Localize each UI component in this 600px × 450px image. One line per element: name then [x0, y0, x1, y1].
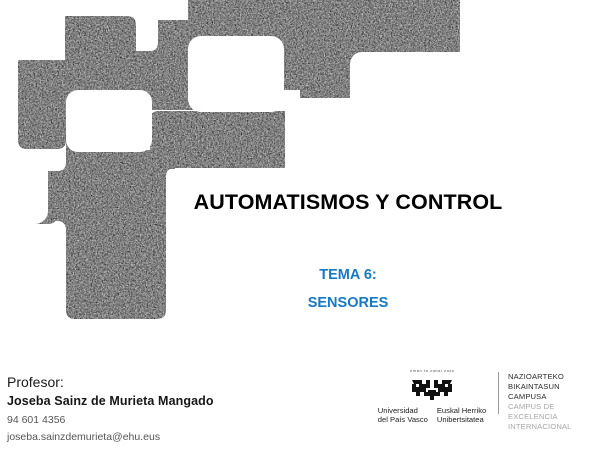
upv-name-es-line2: del País Vasco: [378, 415, 428, 425]
upv-name-row: Universidad del País Vasco Euskal Herrik…: [378, 406, 486, 425]
upv-name-eu-line2: Unibertsitatea: [437, 415, 486, 425]
professor-email[interactable]: joseba.sainzdemurieta@ehu.eus: [7, 432, 214, 443]
title-slide: AUTOMATISMOS Y CONTROL TEMA 6: SENSORES …: [0, 0, 600, 450]
campus-es-line3: INTERNACIONAL: [508, 422, 572, 432]
page-title: AUTOMATISMOS Y CONTROL: [176, 191, 520, 215]
campus-es-line1: CAMPUS DE: [508, 402, 572, 412]
upv-ehu-emblem-icon: [410, 376, 454, 402]
professor-label: Profesor:: [7, 375, 214, 389]
upv-name-es-line1: Universidad: [378, 406, 428, 416]
campus-eu-line2: BIKAINTASUN: [508, 382, 572, 392]
campus-es-line2: EXCELENCIA: [508, 412, 572, 422]
upv-name-spanish: Universidad del País Vasco: [378, 406, 428, 425]
subtitle-topic-name: SENSORES: [176, 290, 520, 318]
logo-divider: [498, 372, 499, 414]
upv-name-basque: Euskal Herriko Unibertsitatea: [437, 406, 486, 425]
professor-info-block: Profesor: Joseba Sainz de Murieta Mangad…: [7, 375, 214, 443]
campus-excellence-logo: NAZIOARTEKO BIKAINTASUN CAMPUSA CAMPUS D…: [508, 370, 572, 433]
upv-ehu-logo: eman ta zabal zazu Universidad: [372, 370, 492, 425]
subtitle-topic-number: TEMA 6:: [176, 262, 520, 290]
campus-eu-line3: CAMPUSA: [508, 392, 572, 402]
professor-phone: 94 601 4356: [7, 415, 214, 426]
campus-eu-line1: NAZIOARTEKO: [508, 372, 572, 382]
upv-motto-text: eman ta zabal zazu: [410, 370, 455, 374]
footer-logo-area: eman ta zabal zazu Universidad: [372, 370, 572, 430]
subtitle-block: TEMA 6: SENSORES: [176, 262, 520, 317]
upv-name-eu-line1: Euskal Herriko: [437, 406, 486, 416]
professor-name: Joseba Sainz de Murieta Mangado: [7, 395, 214, 408]
